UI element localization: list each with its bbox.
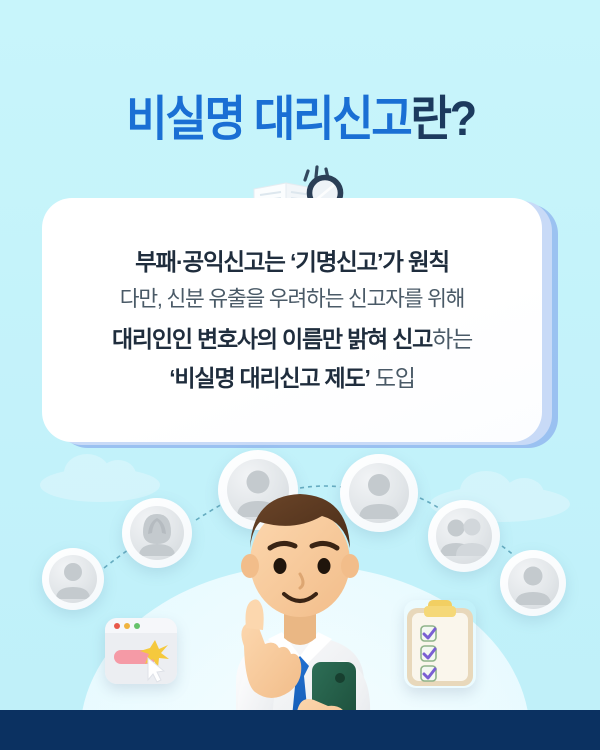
- card-line-4: ‘비실명 대리신고 제도’ 도입: [169, 361, 415, 395]
- card-line-1: 부패·공익신고는 ‘기명신고’가 원칙: [135, 245, 449, 280]
- user-silhouette-icon: [508, 558, 559, 609]
- bottom-bar: [0, 710, 600, 750]
- card-line-4-light: 도입: [370, 365, 415, 391]
- avatar-female-left-mid: [122, 498, 192, 568]
- content-card-stack: 부패·공익신고는 ‘기명신고’가 원칙 다만, 신분 유출을 우려하는 신고자를…: [42, 198, 562, 448]
- clipboard-check-icon: [404, 600, 476, 688]
- card-line-3: 대리인인 변호사의 이름만 밝혀 신고하는: [112, 322, 472, 356]
- avatar-single-right-low: [500, 550, 566, 616]
- businessman-character: [190, 450, 420, 750]
- user-pair-silhouette-icon: [436, 508, 492, 564]
- content-card: 부패·공익신고는 ‘기명신고’가 원칙 다만, 신분 유출을 우려하는 신고자를…: [42, 198, 542, 442]
- infographic-canvas: 비실명 대리신고란?: [0, 0, 600, 750]
- card-line-4-strong: ‘비실명 대리신고 제도’: [169, 365, 369, 391]
- avatar-single-left-low: [42, 548, 104, 610]
- user-female-silhouette-icon: [130, 506, 184, 560]
- card-line-3-strong: 대리인인 변호사의 이름만 밝혀 신고: [112, 326, 432, 352]
- card-line-2: 다만, 신분 유출을 우려하는 신고자를 위해: [120, 284, 465, 316]
- page-title: 비실명 대리신고란?: [0, 96, 600, 144]
- user-silhouette-icon: [49, 555, 97, 603]
- illustration-scene: [0, 440, 600, 750]
- avatar-pair-right-mid: [428, 500, 500, 572]
- page-title-navy: 란?: [410, 93, 474, 146]
- page-title-blue: 비실명 대리신고: [126, 93, 410, 146]
- browser-window-icon: [105, 618, 177, 684]
- card-line-3-light: 하는: [432, 326, 472, 352]
